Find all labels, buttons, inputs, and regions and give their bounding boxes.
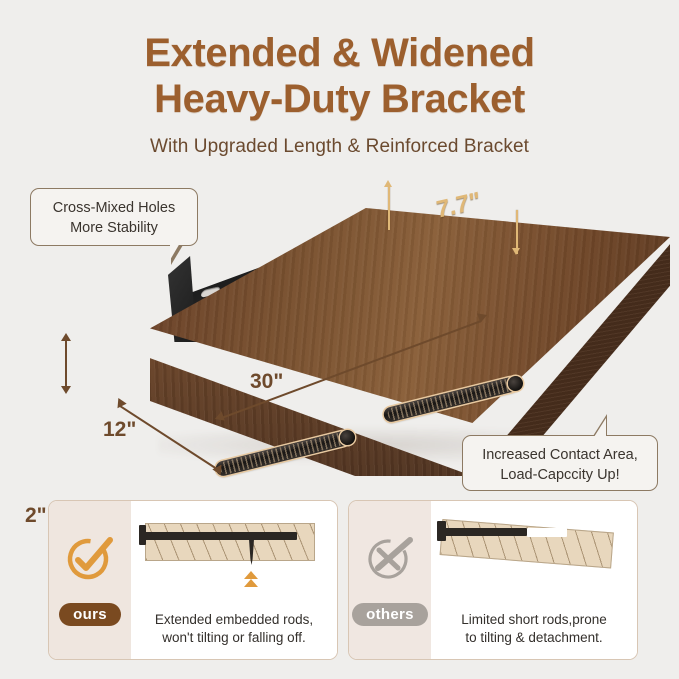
others-short-rod — [443, 528, 527, 536]
callout-left-tail-fill — [170, 243, 180, 260]
thickness-dim-line — [65, 340, 67, 388]
depth-label: 12" — [103, 418, 136, 442]
others-caption-line-1: Limited short rods,prone — [437, 611, 631, 629]
others-caption-line-2: to tilting & detachment. — [437, 629, 631, 647]
ours-embedded-rod — [145, 532, 297, 540]
ours-diagram-column: Extended embedded rods, won't tilting or… — [131, 501, 337, 659]
thickness-arrow-bottom — [61, 386, 71, 394]
others-badge-label: others — [352, 603, 428, 626]
others-caption: Limited short rods,prone to tilting & de… — [431, 611, 637, 647]
callout-left-line-1: Cross-Mixed Holes — [43, 198, 185, 218]
callout-left-line-2: More Stability — [43, 218, 185, 238]
length-label: 30" — [250, 370, 283, 394]
title-line-1: Extended & Widened — [0, 30, 679, 76]
bracket-dim-tick-left — [388, 186, 390, 230]
header-block: Extended & Widened Heavy-Duty Bracket Wi… — [0, 30, 679, 158]
infographic-canvas: Extended & Widened Heavy-Duty Bracket Wi… — [0, 0, 679, 679]
ours-wall-block — [145, 523, 315, 561]
subtitle: With Upgraded Length & Reinforced Bracke… — [0, 136, 679, 158]
hero-product-illustration: 7.7" 2" 30" 12" Cross-Mixed Holes More S… — [0, 170, 679, 490]
others-badge-column: others — [349, 501, 431, 659]
ours-force-arrow — [244, 579, 258, 587]
callout-right-line-1: Increased Contact Area, — [475, 445, 645, 465]
ours-badge-column: ours — [49, 501, 131, 659]
ours-badge-label: ours — [59, 603, 121, 626]
comparison-card-ours: ours Extended embedded rods, won't tilti… — [48, 500, 338, 660]
ours-caption-line-2: won't tilting or falling off. — [137, 629, 331, 647]
bracket-dim-arrow-right — [512, 248, 520, 255]
ours-caption: Extended embedded rods, won't tilting or… — [131, 611, 337, 647]
x-circle-icon — [364, 534, 416, 589]
others-empty-cavity — [527, 528, 567, 537]
callout-cross-mixed-holes: Cross-Mixed Holes More Stability — [30, 188, 198, 246]
callout-right-line-2: Load-Capccity Up! — [475, 465, 645, 485]
check-circle-icon — [64, 534, 116, 589]
callout-right-tail-fill — [594, 418, 606, 437]
bracket-dim-arrow-left — [384, 180, 392, 187]
others-wall-block — [440, 519, 614, 568]
ours-force-arrow — [244, 571, 258, 579]
title-line-2: Heavy-Duty Bracket — [0, 76, 679, 122]
comparison-section: ours Extended embedded rods, won't tilti… — [0, 500, 679, 665]
callout-increased-contact-area: Increased Contact Area, Load-Capccity Up… — [462, 435, 658, 491]
ours-caption-line-1: Extended embedded rods, — [137, 611, 331, 629]
comparison-card-others: others Limited short rods,prone to tilti… — [348, 500, 638, 660]
thickness-arrow-top — [61, 333, 71, 341]
others-diagram-column: Limited short rods,prone to tilting & de… — [431, 501, 637, 659]
